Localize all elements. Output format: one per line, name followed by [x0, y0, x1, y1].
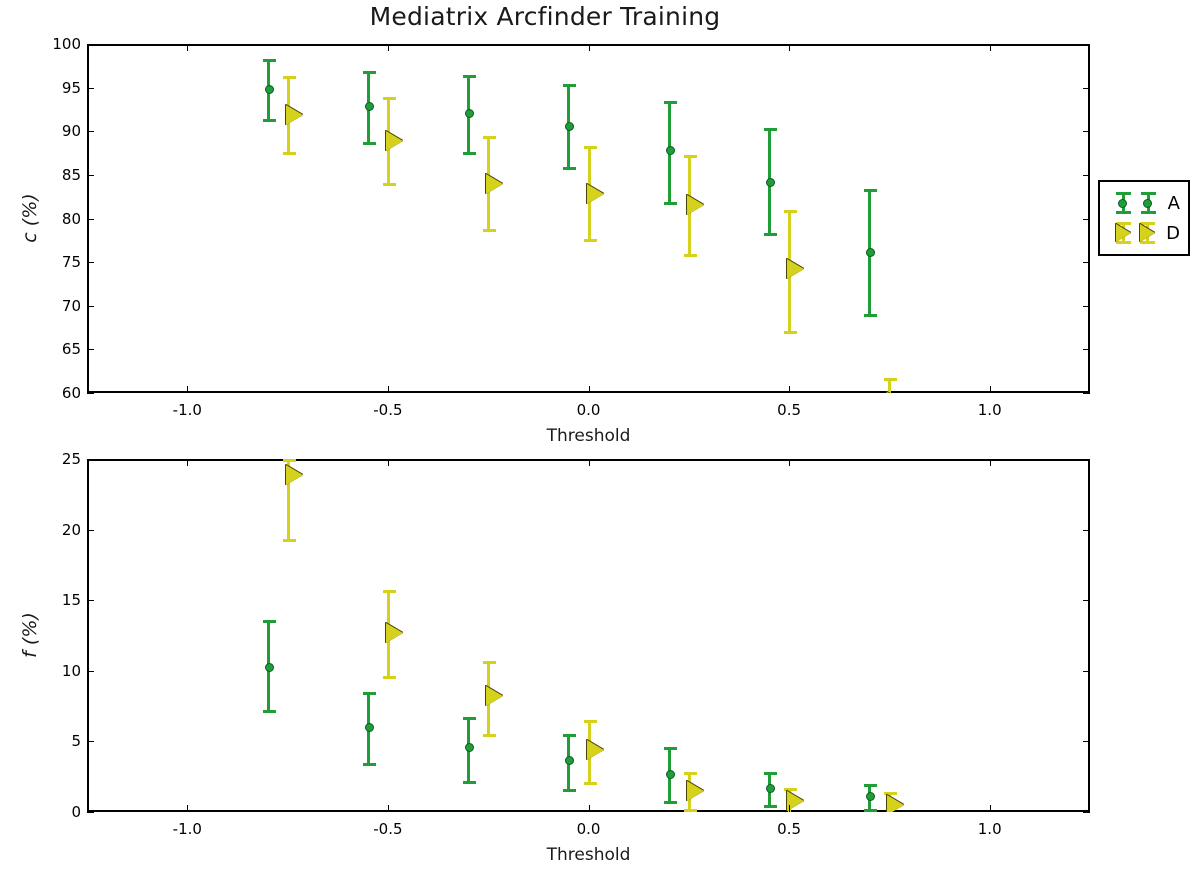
xtick-top-bottom-4	[990, 459, 991, 466]
legend-cap-upper	[1116, 192, 1131, 195]
legend-cap-lower	[1141, 211, 1156, 214]
errorbar-cap-lower	[463, 781, 476, 784]
errorbar-cap-lower	[263, 710, 276, 713]
marker-circle	[365, 723, 374, 732]
errorbar-cap-upper	[283, 459, 296, 462]
ytick-right-bottom-2	[1083, 671, 1090, 672]
legend-marker-sample	[1108, 189, 1133, 217]
ytick-right-bottom-3	[1083, 600, 1090, 601]
legend-marker-circle	[1118, 199, 1127, 208]
xticklabel-bottom-3: 0.5	[777, 820, 801, 838]
legend-marker-circle	[1143, 199, 1152, 208]
errorbar-cap-upper	[563, 734, 576, 737]
yaxis-label-bottom: f (%)	[19, 600, 41, 670]
xtick-bottom-2	[589, 805, 590, 812]
errorbar-cap-upper	[664, 747, 677, 750]
marker-circle	[565, 756, 574, 765]
errorbar-cap-lower	[664, 801, 677, 804]
xticklabel-bottom-4: 1.0	[978, 820, 1002, 838]
legend-marker-sample	[1108, 219, 1132, 247]
figure-canvas: Mediatrix Arcfinder Training -1.0-0.50.0…	[0, 0, 1200, 884]
yticklabel-bottom-2: 10	[39, 662, 81, 680]
ytick-right-bottom-5	[1083, 459, 1090, 460]
panel-bottom: -1.0-0.50.00.51.00510152025Thresholdf (%…	[0, 0, 1200, 884]
xtick-bottom-3	[789, 805, 790, 812]
errorbar-cap-upper	[483, 661, 496, 664]
legend-marker-sample	[1133, 189, 1158, 217]
marker-circle	[766, 784, 775, 793]
yticklabel-bottom-3: 15	[39, 591, 81, 609]
legend-entry-D: D	[1108, 218, 1180, 248]
xtick-top-bottom-3	[789, 459, 790, 466]
yticklabel-bottom-1: 5	[39, 732, 81, 750]
legend-label-D: D	[1166, 223, 1180, 244]
marker-right-triangle	[386, 623, 403, 643]
xtick-bottom-0	[187, 805, 188, 812]
ytick-right-bottom-1	[1083, 741, 1090, 742]
yticklabel-bottom-5: 25	[39, 450, 81, 468]
errorbar-cap-upper	[864, 784, 877, 787]
errorbar-cap-lower	[283, 539, 296, 542]
errorbar-cap-upper	[263, 620, 276, 623]
xtick-top-bottom-1	[388, 459, 389, 466]
legend-marker-right-triangle	[1116, 224, 1131, 242]
errorbar-cap-lower	[563, 789, 576, 792]
errorbar-cap-lower	[684, 809, 697, 812]
yticklabel-bottom-4: 20	[39, 521, 81, 539]
ytick-bottom-3	[87, 600, 94, 601]
marker-right-triangle	[286, 465, 303, 485]
legend-entry-A: A	[1108, 188, 1180, 218]
errorbar-cap-lower	[764, 805, 777, 808]
plot-area-bottom	[87, 459, 1090, 812]
xticklabel-bottom-1: -0.5	[373, 820, 402, 838]
ytick-bottom-5	[87, 459, 94, 460]
yticklabel-bottom-0: 0	[39, 803, 81, 821]
errorbar-cap-upper	[363, 692, 376, 695]
xtick-bottom-4	[990, 805, 991, 812]
errorbar-cap-lower	[383, 676, 396, 679]
ytick-bottom-4	[87, 530, 94, 531]
marker-circle	[265, 663, 274, 672]
errorbar-cap-lower	[584, 782, 597, 785]
errorbar-cap-upper	[383, 590, 396, 593]
errorbar-cap-upper	[684, 772, 697, 775]
legend-label-A: A	[1168, 193, 1180, 214]
marker-circle	[866, 792, 875, 801]
errorbar-cap-lower	[864, 809, 877, 812]
legend-marker-right-triangle	[1140, 224, 1155, 242]
ytick-right-bottom-4	[1083, 530, 1090, 531]
marker-circle	[666, 770, 675, 779]
xaxis-label-bottom: Threshold	[547, 845, 631, 865]
xtick-bottom-1	[388, 805, 389, 812]
legend-cap-lower	[1116, 211, 1131, 214]
marker-circle	[465, 743, 474, 752]
marker-right-triangle	[887, 795, 904, 812]
marker-right-triangle	[587, 740, 604, 760]
xtick-top-bottom-2	[589, 459, 590, 466]
xticklabel-bottom-0: -1.0	[173, 820, 202, 838]
marker-right-triangle	[486, 686, 503, 706]
errorbar-cap-upper	[764, 772, 777, 775]
legend-cap-upper	[1141, 192, 1156, 195]
xticklabel-bottom-2: 0.0	[577, 820, 601, 838]
ytick-bottom-1	[87, 741, 94, 742]
ytick-right-bottom-0	[1083, 812, 1090, 813]
ytick-bottom-2	[87, 671, 94, 672]
xtick-top-bottom-0	[187, 459, 188, 466]
marker-right-triangle	[687, 781, 704, 801]
ytick-bottom-0	[87, 812, 94, 813]
errorbar-cap-lower	[363, 763, 376, 766]
errorbar-cap-lower	[483, 734, 496, 737]
legend-marker-sample	[1132, 219, 1156, 247]
errorbar-cap-upper	[584, 720, 597, 723]
legend: AD	[1098, 180, 1190, 256]
errorbar-cap-upper	[463, 717, 476, 720]
